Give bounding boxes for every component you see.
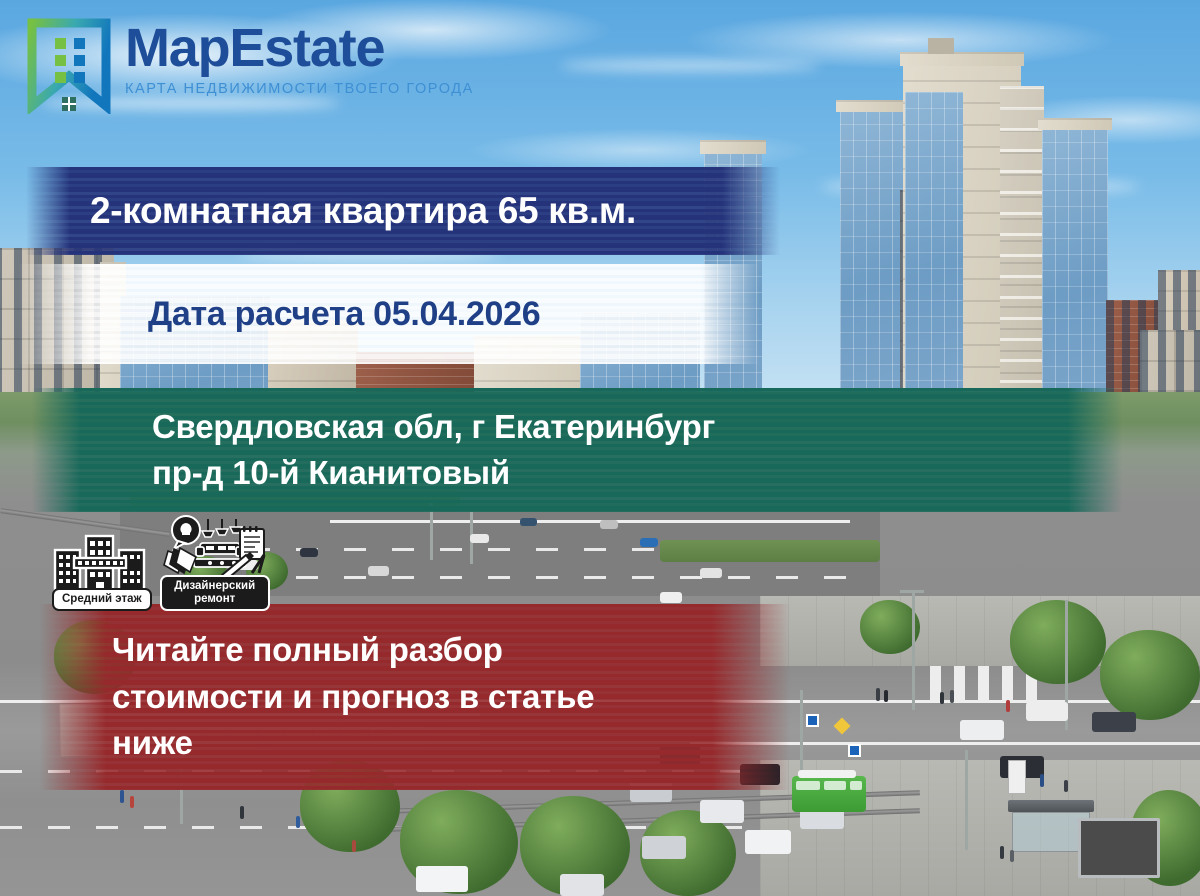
- pedestrian: [1010, 850, 1014, 862]
- brand-name: MapEstate: [125, 23, 474, 74]
- tree: [1010, 600, 1106, 684]
- pedestrian: [352, 840, 356, 852]
- badge-label-line-1: Дизайнерский: [170, 580, 260, 593]
- badge-label-line-2: ремонт: [170, 593, 260, 606]
- tower-b-roof: [836, 100, 912, 112]
- banner-address: Свердловская обл, г Екатеринбург пр-д 10…: [32, 388, 1122, 512]
- bus-stop-canopy: [1008, 800, 1094, 812]
- cta-line-3: ниже: [112, 720, 790, 767]
- road-sign-blue: [806, 714, 819, 727]
- pedestrian: [296, 816, 300, 828]
- car: [640, 538, 658, 547]
- street-lamp: [965, 750, 968, 850]
- pedestrian: [884, 690, 888, 702]
- car: [520, 518, 537, 526]
- banner-apartment-title: 2-комнатная квартира 65 кв.м.: [26, 167, 780, 255]
- highrise-glass-right-roof: [1038, 118, 1112, 130]
- tree: [860, 600, 920, 654]
- street-lamp-arm: [900, 590, 924, 593]
- digital-billboard: [1078, 818, 1160, 878]
- calculation-date-text: Дата расчета 05.04.2026: [18, 295, 760, 334]
- design-renovation-icon: [160, 515, 270, 581]
- car: [1026, 702, 1068, 721]
- pedestrian: [950, 690, 954, 703]
- car: [560, 874, 604, 896]
- bus-roof: [798, 770, 856, 778]
- cloud: [560, 60, 820, 71]
- pedestrian: [1040, 774, 1044, 787]
- pedestrian: [1000, 846, 1004, 859]
- pedestrian: [1064, 780, 1068, 792]
- pedestrian: [240, 806, 244, 819]
- pedestrian: [876, 688, 880, 701]
- pedestrian: [940, 692, 944, 704]
- car: [600, 520, 618, 529]
- city-bus: [792, 776, 866, 812]
- car: [660, 592, 682, 603]
- car: [642, 836, 686, 859]
- banner-calculation-date: Дата расчета 05.04.2026: [18, 264, 760, 364]
- van: [416, 866, 468, 892]
- address-line-2: пр-д 10-й Кианитовый: [152, 450, 1122, 496]
- car: [700, 568, 722, 578]
- car: [368, 566, 389, 576]
- feature-badges: Средний этаж: [52, 515, 270, 611]
- car: [700, 800, 744, 823]
- buildings-icon: [52, 532, 148, 594]
- car: [470, 534, 489, 543]
- badge-middle-floor[interactable]: Средний этаж: [52, 532, 152, 611]
- address-line-1: Свердловская обл, г Екатеринбург: [152, 404, 1122, 450]
- highrise-main-roof: [900, 52, 1024, 66]
- traffic-pole: [800, 690, 803, 780]
- median-grass: [660, 540, 880, 562]
- banner-cta[interactable]: Читайте полный разбор стоимости и прогно…: [40, 604, 790, 790]
- pedestrian: [120, 790, 124, 803]
- car: [960, 720, 1004, 740]
- road-sign-blue: [848, 744, 861, 757]
- street-lamp: [912, 590, 915, 710]
- cta-line-2: стоимости и прогноз в статье: [112, 674, 790, 721]
- pedestrian: [130, 796, 134, 808]
- cta-text: Читайте полный разбор стоимости и прогно…: [40, 627, 790, 768]
- car: [1092, 712, 1136, 732]
- badge-middle-floor-label: Средний этаж: [52, 588, 152, 611]
- lane-marking: [200, 576, 860, 579]
- pedestrian: [1006, 700, 1010, 712]
- brand-tagline: КАРТА НЕДВИЖИМОСТИ ТВОЕГО ГОРОДА: [125, 81, 474, 97]
- bookmark-building-icon: [27, 18, 111, 114]
- car: [300, 548, 318, 557]
- lane-marking: [330, 520, 850, 523]
- promo-card: АПТЕКА: [0, 0, 1200, 896]
- car: [745, 830, 791, 854]
- tree: [1100, 630, 1200, 720]
- badge-designer-renovation[interactable]: Дизайнерский ремонт: [160, 515, 270, 611]
- address-text: Свердловская обл, г Екатеринбург пр-д 10…: [32, 404, 1122, 495]
- tower-a-roof: [700, 140, 766, 154]
- brand-logo[interactable]: MapEstate КАРТА НЕДВИЖИМОСТИ ТВОЕГО ГОРО…: [27, 18, 474, 114]
- cta-line-1: Читайте полный разбор: [112, 627, 790, 674]
- roof-unit: [928, 38, 954, 54]
- badge-designer-renovation-label: Дизайнерский ремонт: [160, 575, 270, 611]
- ad-lightbox: [1008, 760, 1026, 794]
- apartment-title-text: 2-комнатная квартира 65 кв.м.: [26, 190, 780, 232]
